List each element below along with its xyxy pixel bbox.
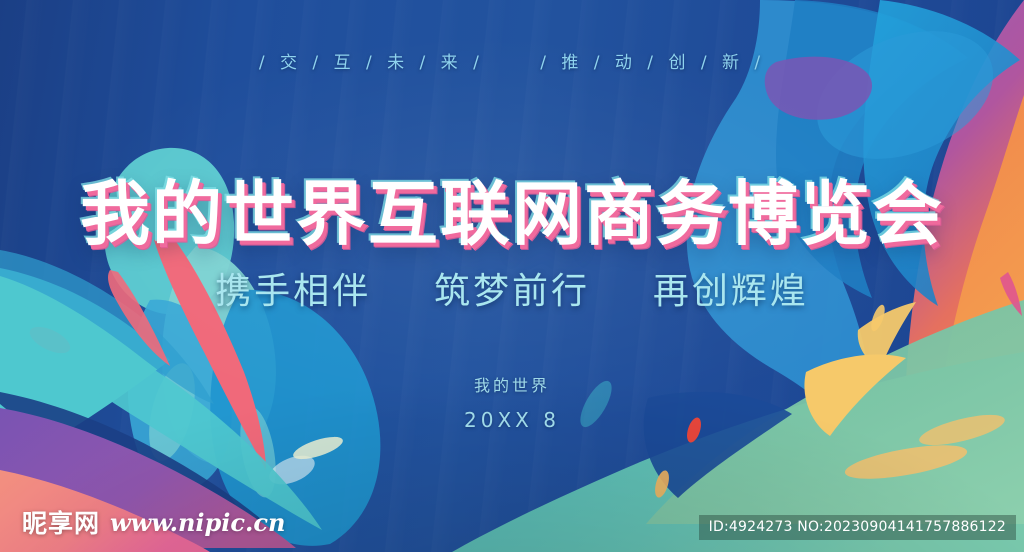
topline-char: 交 xyxy=(280,53,312,73)
subtitle-part-1: 携手相伴 xyxy=(215,271,371,312)
status-badge: ID:4924273 NO:20230904141757886122 xyxy=(699,515,1016,540)
topline-separator: / xyxy=(366,53,387,73)
topline-char: 互 xyxy=(334,53,366,73)
topline-separator: / xyxy=(701,53,722,73)
poster-canvas: / 交 / 互 / 未 / 来 / / 推 / 动 / 创 / 新 / 我的世界… xyxy=(0,0,1024,552)
topline-char: 新 xyxy=(722,53,754,73)
topline-separator: / xyxy=(754,53,765,73)
organizer-name: 我的世界 xyxy=(0,374,1024,399)
topline-group-right: / 推 / 动 / 创 / 新 / xyxy=(540,53,765,73)
topline-separator: / xyxy=(312,53,333,73)
watermark-logo: 昵享网 xyxy=(22,504,100,540)
topline-separator: / xyxy=(259,53,280,73)
subtitle-part-2: 筑梦前行 xyxy=(434,271,590,312)
subtitle-part-3: 再创辉煌 xyxy=(653,271,809,312)
event-date: 20XX 8 xyxy=(0,405,1024,436)
event-meta: 我的世界 20XX 8 xyxy=(0,374,1024,436)
subtitle-slogan: 携手相伴 筑梦前行 再创辉煌 xyxy=(0,262,1024,314)
topline-group-left: / 交 / 互 / 未 / 来 / xyxy=(259,53,494,73)
topline-char: 创 xyxy=(668,53,700,73)
watermark: 昵享网 www.nipic.cn xyxy=(22,504,285,540)
topline-char: 推 xyxy=(561,53,593,73)
topline-separator: / xyxy=(594,53,615,73)
topline-char: 来 xyxy=(441,53,473,73)
topline-char: 动 xyxy=(615,53,647,73)
page-title: 我的世界互联网商务博览会 xyxy=(0,158,1024,259)
topline-char: 未 xyxy=(387,53,419,73)
watermark-url: www.nipic.cn xyxy=(110,508,285,537)
topline-separator: / xyxy=(420,53,441,73)
topline-separator: / xyxy=(473,53,494,73)
topline-slogan: / 交 / 互 / 未 / 来 / / 推 / 动 / 创 / 新 / xyxy=(0,48,1024,73)
topline-separator: / xyxy=(647,53,668,73)
topline-separator: / xyxy=(540,53,561,73)
